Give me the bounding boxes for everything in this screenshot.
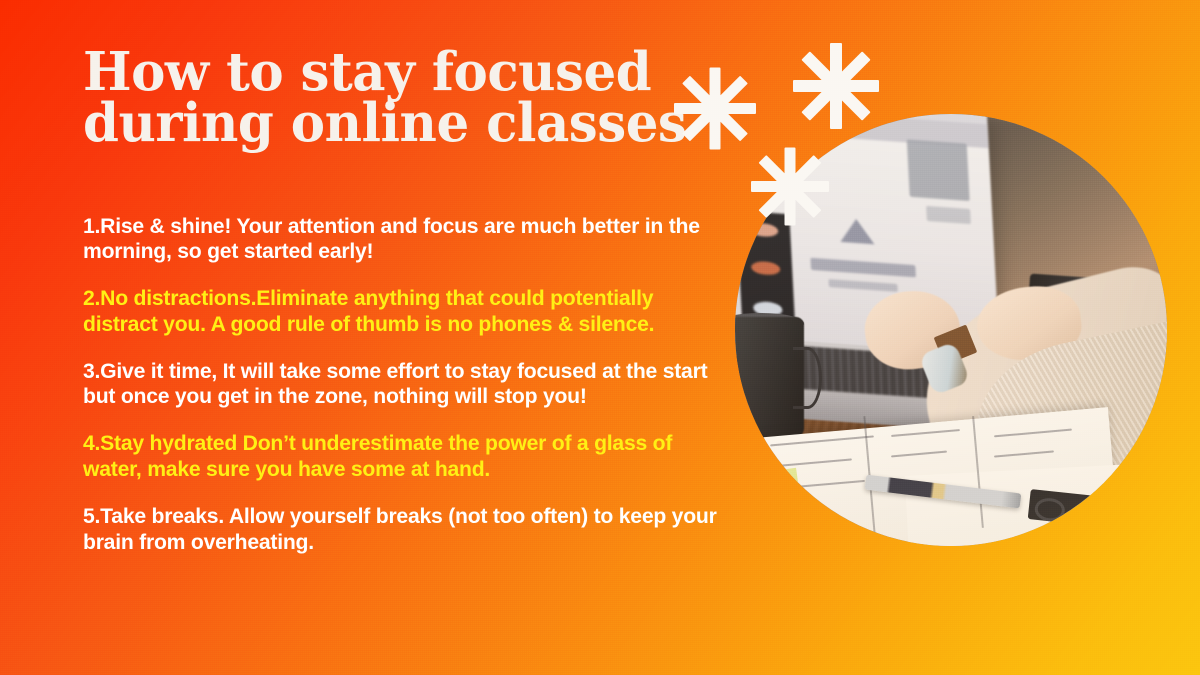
tip-item-4: 4.Stay hydrated Don’t underestimate the …: [83, 431, 723, 482]
tips-list: 1.Rise & shine! Your attention and focus…: [83, 192, 733, 555]
page-title: How to stay focused during online classe…: [83, 47, 684, 150]
tip-item-3: 3.Give it time, It will take some effort…: [83, 359, 723, 410]
page-title-line-2: during online classes: [83, 98, 684, 149]
tip-item-5: 5.Take breaks. Allow yourself breaks (no…: [83, 504, 723, 555]
photo-content: [735, 114, 1167, 546]
circular-photo: [735, 114, 1167, 546]
photo-color-grade: [735, 114, 1167, 546]
tip-item-2: 2.No distractions.Eliminate anything tha…: [83, 286, 723, 337]
tip-item-1: 1.Rise & shine! Your attention and focus…: [83, 214, 723, 265]
poster-canvas: How to stay focused during online classe…: [0, 0, 1200, 675]
page-title-line-1: How to stay focused: [83, 47, 684, 98]
